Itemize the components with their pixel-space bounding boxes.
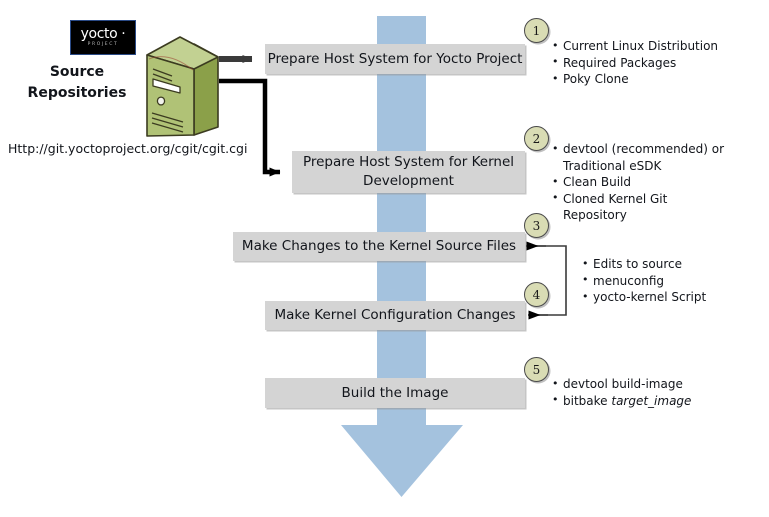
step-number-2: 2 (524, 126, 549, 151)
yocto-project-logo: yocto · PROJECT (70, 20, 136, 55)
step-box-4[interactable]: Make Kernel Configuration Changes (265, 301, 525, 330)
diagram-canvas: yocto · PROJECT Source Repositories Http… (0, 0, 769, 517)
list-item: Poky Clone (551, 71, 756, 88)
list-item: yocto-kernel Script (581, 289, 761, 306)
step-box-3-label: Make Changes to the Kernel Source Files (242, 237, 516, 256)
step-box-1-label: Prepare Host System for Yocto Project (268, 50, 523, 69)
bitbake-command-prefix: bitbake (563, 394, 611, 408)
step-2-bullets: devtool (recommended) or Traditional eSD… (551, 141, 727, 224)
list-item: Clean Build (551, 174, 727, 191)
source-label-line2: Repositories (18, 83, 136, 104)
step-5-bullets: devtool build-image bitbake target_image (551, 376, 751, 409)
step-number-1-value: 1 (533, 24, 541, 38)
list-item: Edits to source (581, 256, 761, 273)
step-box-1[interactable]: Prepare Host System for Yocto Project (265, 44, 525, 74)
step-number-5: 5 (524, 357, 549, 382)
steps-3-4-bullets: Edits to source menuconfig yocto-kernel … (581, 256, 761, 306)
step-box-4-label: Make Kernel Configuration Changes (274, 306, 515, 325)
step-box-2-label: Prepare Host System for Kernel Developme… (292, 153, 525, 191)
step-number-5-value: 5 (533, 363, 541, 377)
step-box-5-label: Build the Image (342, 384, 449, 403)
step-box-3[interactable]: Make Changes to the Kernel Source Files (233, 232, 525, 261)
list-item: devtool build-image (551, 376, 751, 393)
list-item: Current Linux Distribution (551, 38, 756, 55)
list-item: Required Packages (551, 55, 756, 72)
step-number-4: 4 (524, 282, 549, 307)
logo-wordmark: yocto · (81, 27, 126, 41)
source-repositories-url: Http://git.yoctoproject.org/cgit/cgit.cg… (8, 141, 247, 156)
source-repositories-label: Source Repositories (18, 62, 136, 104)
source-label-line1: Source (18, 62, 136, 83)
list-item: menuconfig (581, 273, 761, 290)
logo-subtext: PROJECT (88, 41, 119, 48)
step-number-4-value: 4 (533, 288, 541, 302)
step-number-3-value: 3 (533, 219, 541, 233)
step-number-1: 1 (524, 18, 549, 43)
list-item: bitbake target_image (551, 393, 751, 410)
step-number-3: 3 (524, 213, 549, 238)
step-1-bullets: Current Linux Distribution Required Pack… (551, 38, 756, 88)
step-number-2-value: 2 (533, 132, 541, 146)
server-tower-icon (136, 35, 226, 140)
bitbake-target-image-arg: target_image (611, 394, 691, 408)
list-item: devtool (recommended) or Traditional eSD… (551, 141, 727, 174)
list-item: Cloned Kernel Git Repository (551, 191, 727, 224)
step-box-2[interactable]: Prepare Host System for Kernel Developme… (292, 151, 525, 193)
step-box-5[interactable]: Build the Image (265, 378, 525, 408)
